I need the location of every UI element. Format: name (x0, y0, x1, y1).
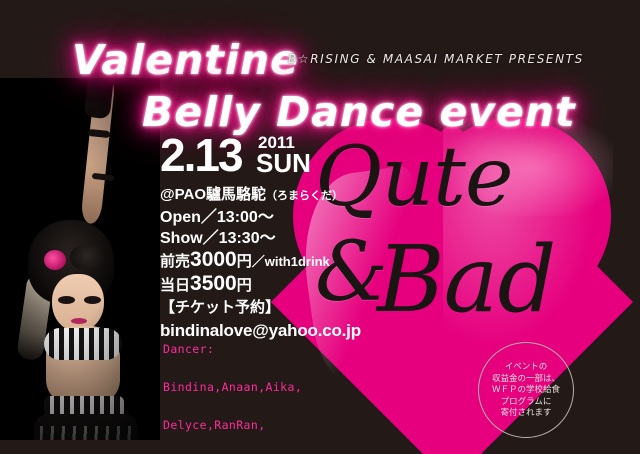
wfp-note-line-4: プログラムに (501, 396, 552, 408)
event-info-block: 2.13 2011 SUN @PAO驢馬駱駝（ろまらくだ） Open／13:00… (160, 134, 360, 343)
event-date: 2.13 2011 SUN (160, 134, 360, 182)
dancer-credits: Dancer: Bindina,Anaan,Aika, Delyce,RanRa… (163, 318, 405, 454)
ticket-reservation-label: 【チケット予約】 (160, 297, 360, 319)
wfp-note-line-1: イベントの (505, 361, 548, 373)
event-venue-name: @PAO驢馬駱駝 (160, 186, 266, 203)
wfp-note-line-3: ＷＦＰの学校給食 (492, 384, 560, 396)
wfp-note-line-2: 収益金の一部は、 (492, 373, 560, 385)
dancer-credits-label: Dancer: (163, 343, 405, 356)
advance-price-label: 前売 (160, 253, 190, 270)
advance-price-unit: 円 (237, 253, 252, 270)
event-poster: Qute & Bad Valentine Belly Dance event B… (0, 0, 640, 454)
wfp-note-line-5: 寄付されます (500, 407, 551, 419)
wfp-donation-note: イベントの 収益金の一部は、 ＷＦＰの学校給食 プログラムに 寄付されます (478, 342, 574, 438)
dancer-credits-line: Bindina,Anaan,Aika, (163, 381, 405, 394)
door-price-label: 当日 (160, 277, 190, 294)
advance-price-note: ／with1drink (252, 254, 330, 269)
photo-vignette (0, 78, 160, 440)
presents-credit: B☆RISING & MAASAI MARKET PRESENTS (288, 52, 584, 66)
dancer-photo (0, 78, 160, 440)
advance-price-value: 3000 (190, 248, 237, 271)
event-date-number: 2.13 (160, 132, 242, 178)
door-price-unit: 円 (237, 277, 252, 294)
event-day-of-week: SUN (256, 150, 311, 176)
event-show-time: Show／13:30～ (160, 228, 360, 249)
event-open-time: Open／13:00～ (160, 207, 360, 228)
event-venue: @PAO驢馬駱駝（ろまらくだ） (160, 184, 360, 207)
door-price-row: 当日3500円 (160, 273, 360, 297)
event-venue-kana: （ろまらくだ） (266, 190, 343, 202)
door-price-value: 3500 (190, 272, 237, 295)
advance-price-row: 前売3000円／with1drink (160, 249, 360, 273)
poster-title-line-1: Valentine (72, 36, 299, 84)
dancer-credits-line: Delyce,RanRan, (163, 419, 405, 432)
